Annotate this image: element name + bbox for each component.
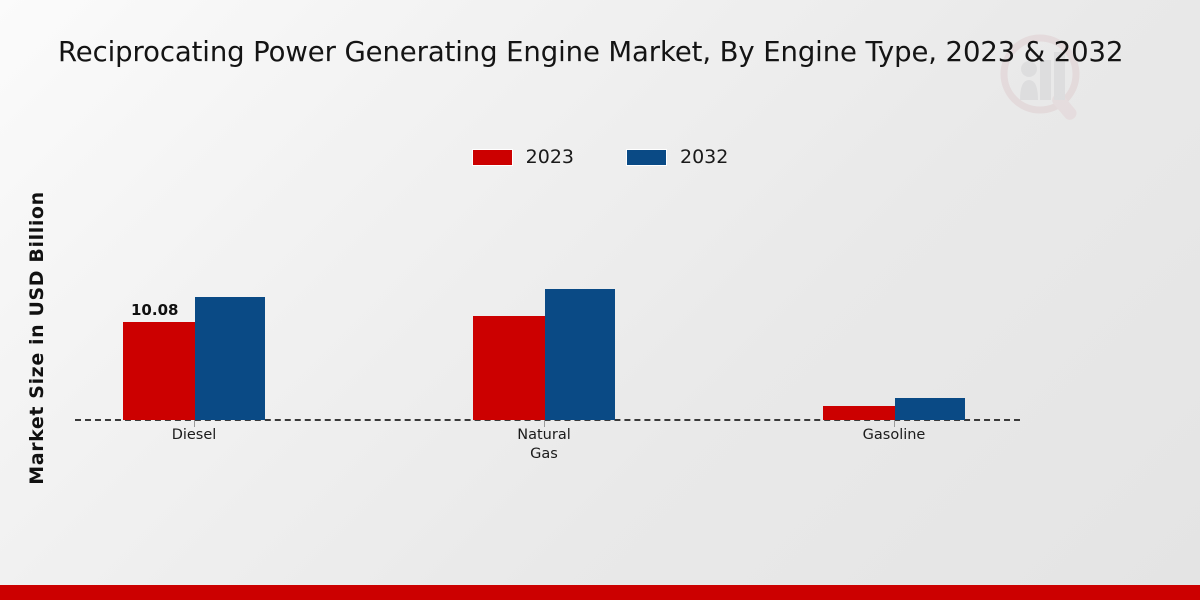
plot-area: 10.08 Diesel Natural Gas Gasoline xyxy=(0,0,1200,600)
category-label-diesel: Diesel xyxy=(104,426,284,445)
bar-natural-gas-2032[interactable] xyxy=(545,289,615,420)
bottom-accent-band xyxy=(0,585,1200,600)
bar-natural-gas-2023[interactable] xyxy=(473,316,545,420)
category-label-natural-gas-line1: Natural xyxy=(454,426,634,445)
bar-gasoline-2023[interactable] xyxy=(823,406,895,420)
bar-diesel-2032[interactable] xyxy=(195,297,265,420)
bar-gasoline-2032[interactable] xyxy=(895,398,965,420)
bar-label-diesel-2023: 10.08 xyxy=(131,301,178,319)
category-label-gasoline: Gasoline xyxy=(804,426,984,445)
bar-diesel-2023[interactable] xyxy=(123,322,195,420)
category-label-gasoline-line1: Gasoline xyxy=(804,426,984,445)
category-label-natural-gas-line2: Gas xyxy=(454,445,634,464)
chart-container: Reciprocating Power Generating Engine Ma… xyxy=(0,0,1200,600)
category-label-natural-gas: Natural Gas xyxy=(454,426,634,464)
category-label-diesel-line1: Diesel xyxy=(104,426,284,445)
